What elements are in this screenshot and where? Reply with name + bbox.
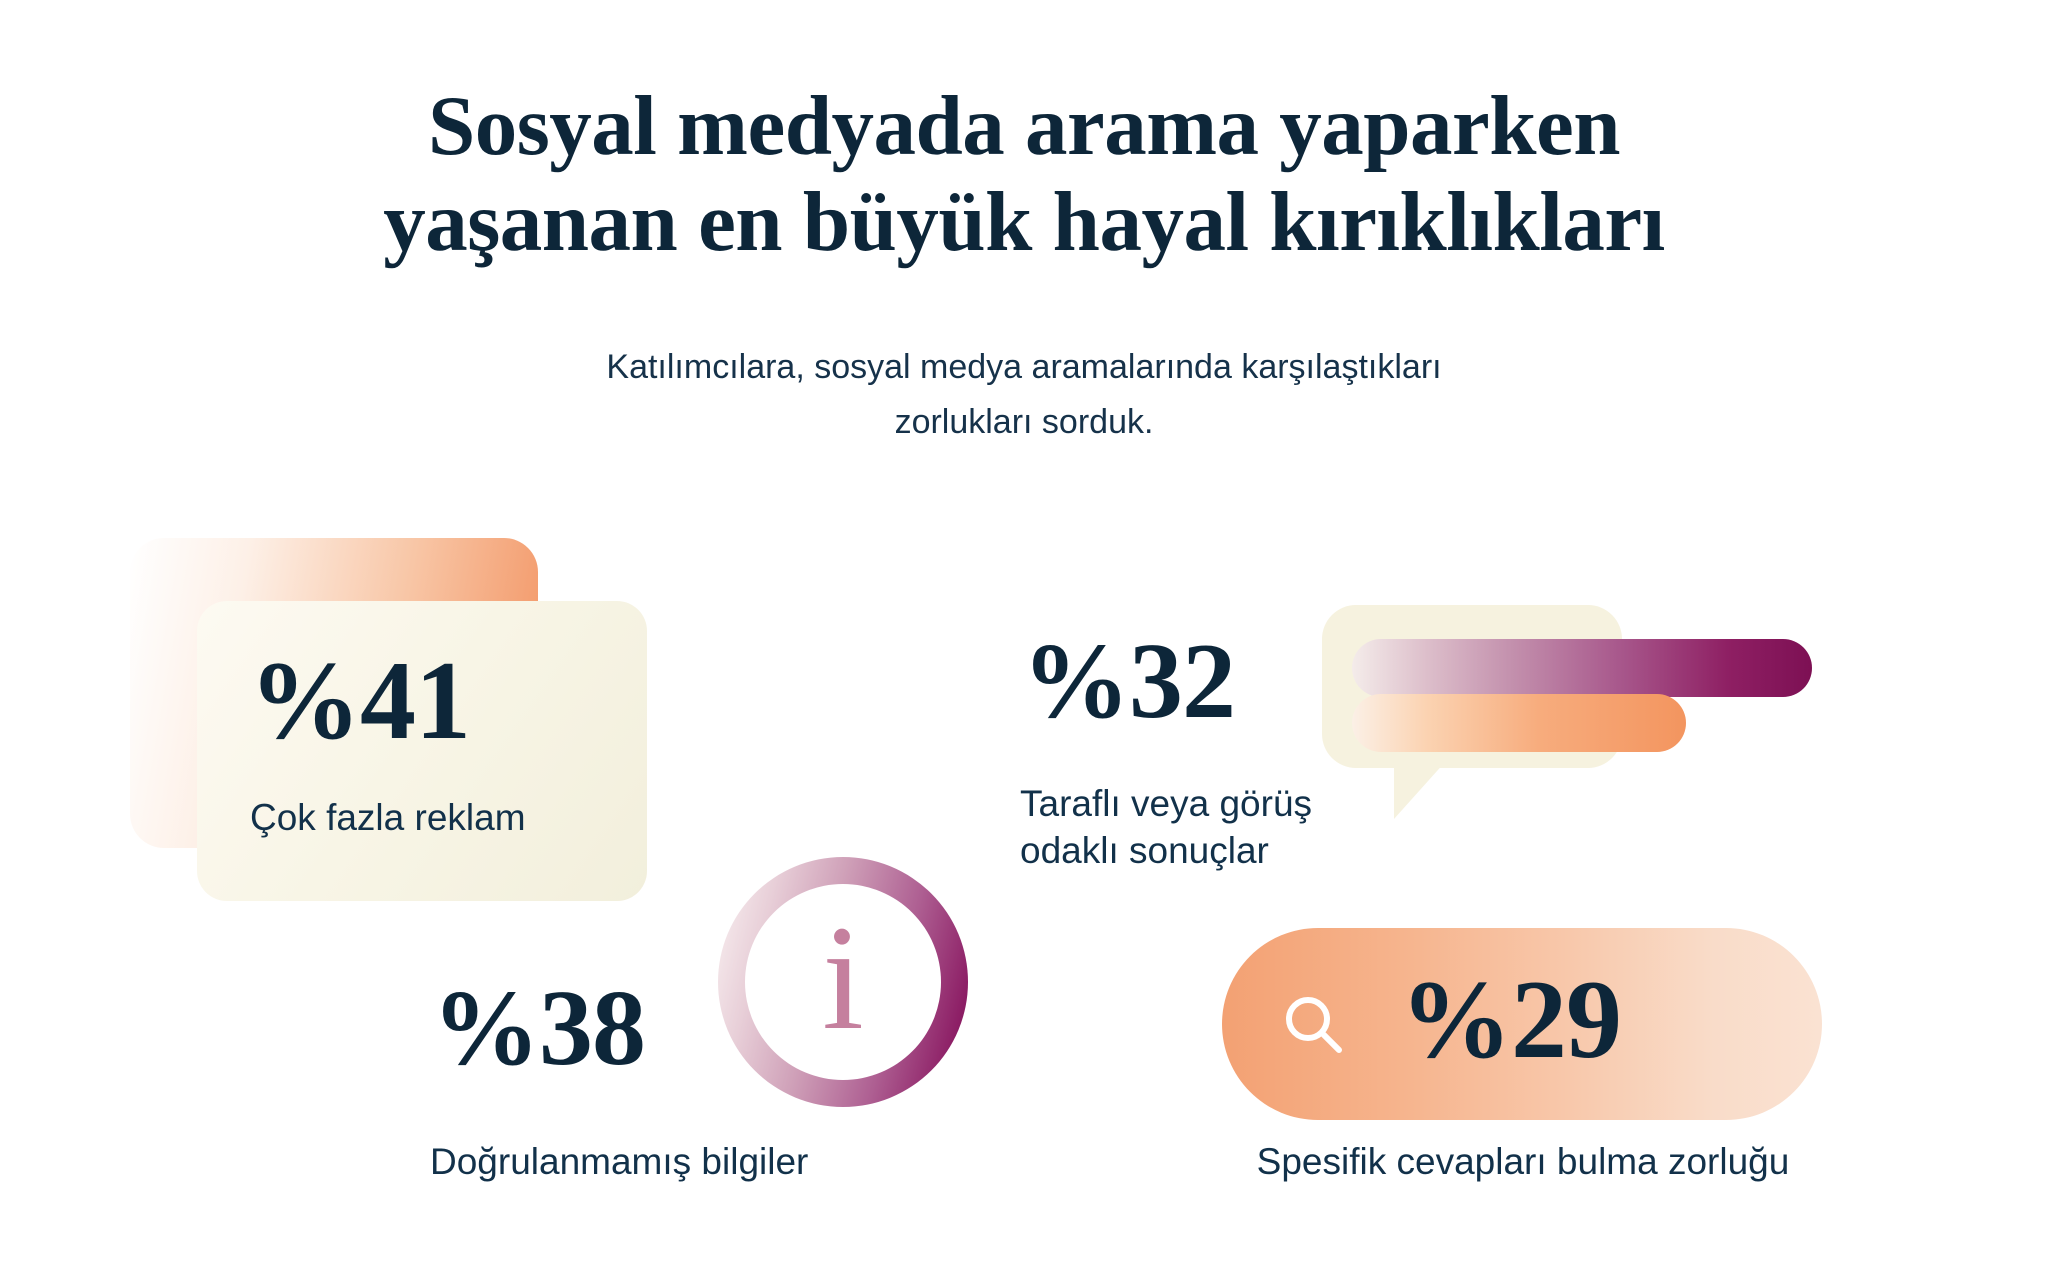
- stat-value-biased-results: %32: [1022, 628, 1235, 736]
- stat-value-specific-answers: %29: [1400, 964, 1621, 1076]
- info-circle-icon: i: [718, 857, 968, 1107]
- stat-label-unverified-info: Doğrulanmamış bilgiler: [430, 1138, 808, 1185]
- page-subtitle: Katılımcılara, sosyal medya aramalarında…: [0, 340, 2048, 450]
- stat-card-too-many-ads: %41 Çok fazla reklam: [197, 601, 647, 901]
- stat-label-specific-answers: Spesifik cevapları bulma zorluğu: [1213, 1138, 1833, 1185]
- search-icon: [1281, 992, 1347, 1058]
- bubble-bar-orange: [1352, 694, 1686, 752]
- stat-label-too-many-ads: Çok fazla reklam: [250, 794, 526, 841]
- stat-value-too-many-ads: %41: [249, 645, 470, 757]
- info-letter-i: i: [718, 857, 968, 1107]
- infographic-canvas: Sosyal medyada arama yaparken yaşanan en…: [0, 0, 2048, 1283]
- bubble-bar-purple: [1352, 639, 1812, 697]
- search-pill-specific-answers: %29: [1222, 928, 1822, 1120]
- stat-label-biased-results: Taraflı veya görüş odaklı sonuçlar: [1020, 780, 1312, 875]
- stat-value-unverified-info: %38: [432, 975, 645, 1083]
- page-title: Sosyal medyada arama yaparken yaşanan en…: [0, 78, 2048, 270]
- speech-bubble-tail: [1394, 761, 1446, 819]
